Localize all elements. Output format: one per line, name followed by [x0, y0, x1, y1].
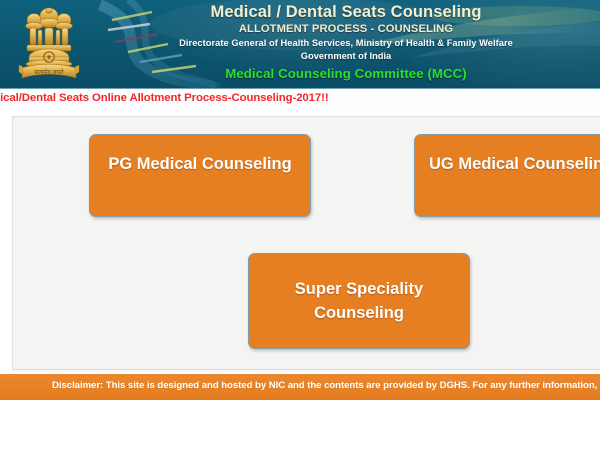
header-subtitle-process: ALLOTMENT PROCESS - COUNSELING	[96, 22, 596, 37]
header-subtitle-government: Government of India	[96, 50, 596, 63]
ug-medical-counseling-button[interactable]: UG Medical Counseling	[414, 134, 600, 217]
announcement-marquee-text: edical/Dental Seats Online Allotment Pro…	[0, 92, 329, 104]
pg-medical-counseling-button[interactable]: PG Medical Counseling	[89, 134, 311, 217]
disclaimer-bar: Disclaimer: This site is designed and ho…	[0, 374, 600, 400]
site-header: सत्यमेव जयते Medical / Dental Seats Coun…	[0, 0, 600, 88]
counseling-options-panel: PG Medical Counseling UG Medical Counsel…	[12, 116, 600, 370]
page-title: Medical / Dental Seats Counseling	[96, 3, 596, 22]
emblem-motto-text: सत्यमेव जयते	[34, 68, 64, 76]
header-subtitle-directorate: Directorate General of Health Services, …	[96, 37, 596, 50]
header-text-block: Medical / Dental Seats Counseling ALLOTM…	[96, 0, 596, 88]
super-speciality-counseling-label: Super Speciality Counseling	[295, 277, 423, 325]
pg-medical-counseling-label: PG Medical Counseling	[108, 154, 291, 174]
footer-blank-area	[0, 400, 600, 450]
national-emblem-icon: सत्यमेव जयते	[18, 2, 80, 86]
super-speciality-line-1: Super Speciality	[295, 280, 423, 298]
announcement-marquee-bar: edical/Dental Seats Online Allotment Pro…	[0, 88, 600, 111]
disclaimer-text: Disclaimer: This site is designed and ho…	[52, 380, 600, 391]
ug-medical-counseling-label: UG Medical Counseling	[429, 154, 600, 174]
super-speciality-line-2: Counseling	[314, 304, 404, 322]
header-committee-name: Medical Counseling Committee (MCC)	[96, 63, 596, 83]
super-speciality-counseling-button[interactable]: Super Speciality Counseling	[248, 253, 470, 349]
main-content-area: PG Medical Counseling UG Medical Counsel…	[0, 111, 600, 375]
